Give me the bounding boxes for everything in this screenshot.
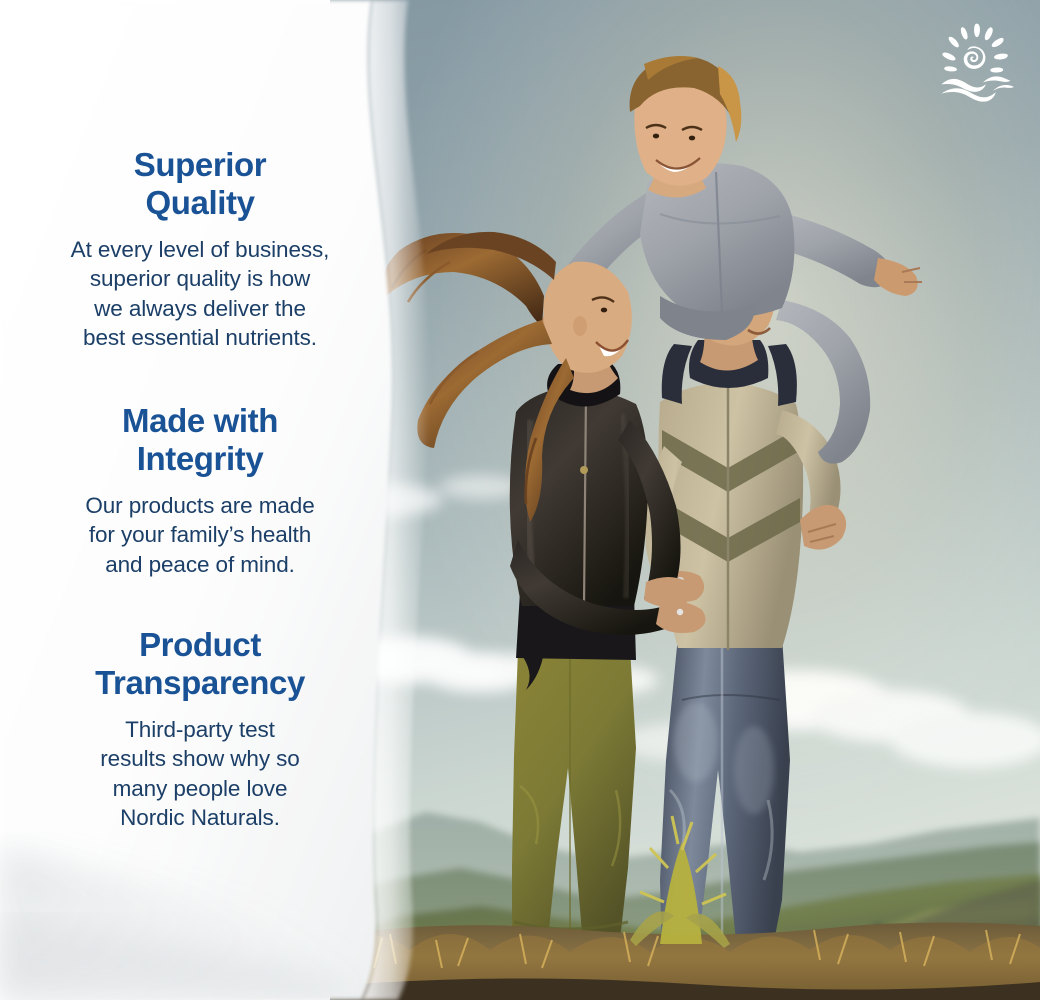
feature-heading-superior-quality: SuperiorQuality — [22, 146, 378, 221]
feature-body-made-with-integrity: Our products are madefor your family’s h… — [22, 491, 378, 579]
feature-block-product-transparency: ProductTransparency Third-party testresu… — [0, 626, 400, 832]
feature-body-product-transparency: Third-party testresults show why somany … — [22, 715, 378, 832]
feature-body-superior-quality: At every level of business,superior qual… — [22, 235, 378, 352]
benefits-column: SuperiorQuality At every level of busine… — [0, 0, 400, 1000]
feature-block-superior-quality: SuperiorQuality At every level of busine… — [0, 146, 400, 352]
sun-wave-logo-icon — [930, 14, 1022, 106]
feature-heading-product-transparency: ProductTransparency — [22, 626, 378, 701]
feature-heading-made-with-integrity: Made withIntegrity — [22, 402, 378, 477]
feature-block-made-with-integrity: Made withIntegrity Our products are made… — [0, 402, 400, 579]
family-mountain-photo — [330, 0, 1040, 1000]
promo-graphic: SuperiorQuality At every level of busine… — [0, 0, 1040, 1000]
